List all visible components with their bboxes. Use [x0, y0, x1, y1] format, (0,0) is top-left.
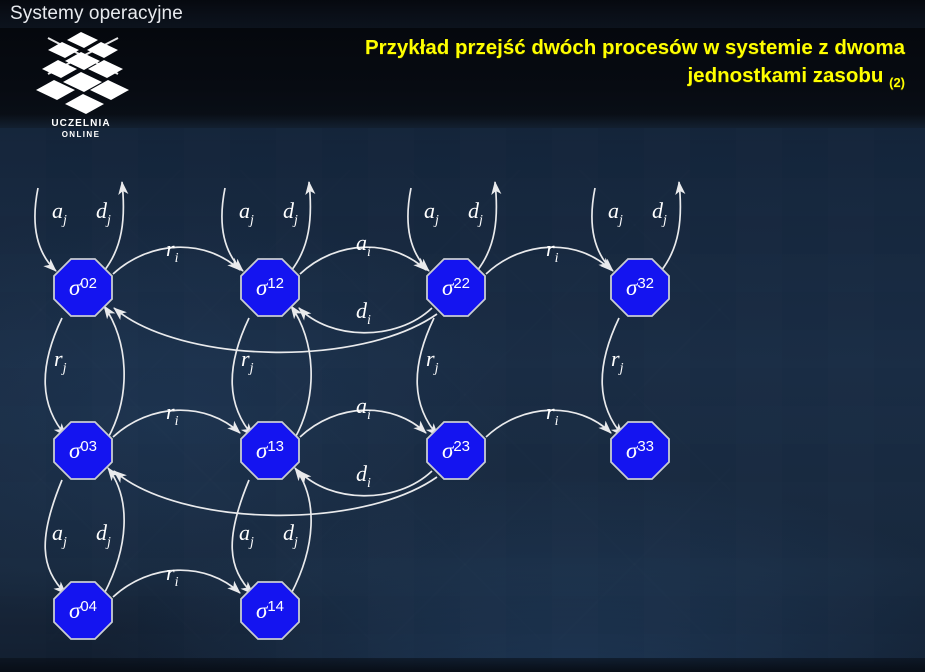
course-title: Systemy operacyjne: [10, 3, 183, 25]
label-dj-c1-bot: dj: [283, 520, 298, 550]
label-aj-c0-top: aj: [52, 198, 67, 228]
edge-dj-c1-bot: [291, 468, 311, 594]
label-rj-c0: rj: [54, 346, 67, 376]
edge-rj-c2-row0-row1: [417, 318, 438, 436]
node-s13[interactable]: σ13: [241, 422, 299, 479]
label-aj-c1-top: aj: [239, 198, 254, 228]
label-ri-s04-s14: ri: [166, 560, 179, 590]
label-dj-c2-top: dj: [468, 198, 483, 228]
label-dj-c3-top: dj: [652, 198, 667, 228]
label-ri-s23-s33: ri: [546, 399, 559, 429]
state-transition-diagram: σ02 σ12 σ22 σ32 σ03: [0, 128, 925, 672]
edge-rj-c3-row0-row1: [602, 318, 623, 436]
node-s22[interactable]: σ22: [427, 259, 485, 316]
slide-canvas: Systemy operacyjne UCZELNIA O: [0, 0, 925, 672]
label-dj-c1-top: dj: [283, 198, 298, 228]
edge-up-c1-row1-row0: [291, 306, 311, 438]
label-di-s23-s13: di: [356, 461, 371, 491]
label-aj-c2-top: aj: [424, 198, 439, 228]
node-s12[interactable]: σ12: [241, 259, 299, 316]
node-s32[interactable]: σ32: [611, 259, 669, 316]
slide-title-line2: jednostkami zasobu: [687, 64, 883, 87]
node-s33[interactable]: σ33: [611, 422, 669, 479]
node-s04[interactable]: σ04: [54, 582, 112, 639]
edge-dj-c0-bot: [104, 468, 124, 594]
label-dj-c0-bot: dj: [96, 520, 111, 550]
label-di-s22-s12: di: [356, 298, 371, 328]
label-rj-c1: rj: [241, 346, 254, 376]
label-aj-c0-bot: aj: [52, 520, 67, 550]
label-ri-s02-s12: ri: [166, 236, 179, 266]
node-s14[interactable]: σ14: [241, 582, 299, 639]
slide-title: Przykład przejść dwóch procesów w system…: [170, 34, 905, 97]
node-s23[interactable]: σ23: [427, 422, 485, 479]
label-aj-c3-top: aj: [608, 198, 623, 228]
uczelnia-online-logo: UCZELNIA ONLINE: [26, 30, 136, 140]
edge-rj-c1-row0-row1: [232, 318, 253, 436]
label-ai-s13-s23: ai: [356, 393, 371, 423]
node-s03[interactable]: σ03: [54, 422, 112, 479]
edge-rj-c0-row0-row1: [45, 318, 66, 436]
top-bar: Systemy operacyjne: [0, 0, 925, 28]
label-ri-s22-s32: ri: [546, 236, 559, 266]
label-aj-c1-bot: aj: [239, 520, 254, 550]
label-ai-s12-s22: ai: [356, 230, 371, 260]
label-dj-c0-top: dj: [96, 198, 111, 228]
label-rj-c3: rj: [611, 346, 624, 376]
slide-title-number: (2): [889, 75, 905, 90]
slide-footer: [0, 658, 925, 672]
slide-title-line1: Przykład przejść dwóch procesów w system…: [365, 36, 905, 59]
diamond-grid-logo-icon: [26, 30, 136, 122]
label-rj-c2: rj: [426, 346, 439, 376]
label-ri-s03-s13: ri: [166, 399, 179, 429]
node-s02[interactable]: σ02: [54, 259, 112, 316]
edge-up-c0-row1-row0: [104, 306, 124, 438]
edge-label-layer: aj dj aj dj aj dj aj dj ri ai di ri rj r…: [52, 198, 667, 590]
